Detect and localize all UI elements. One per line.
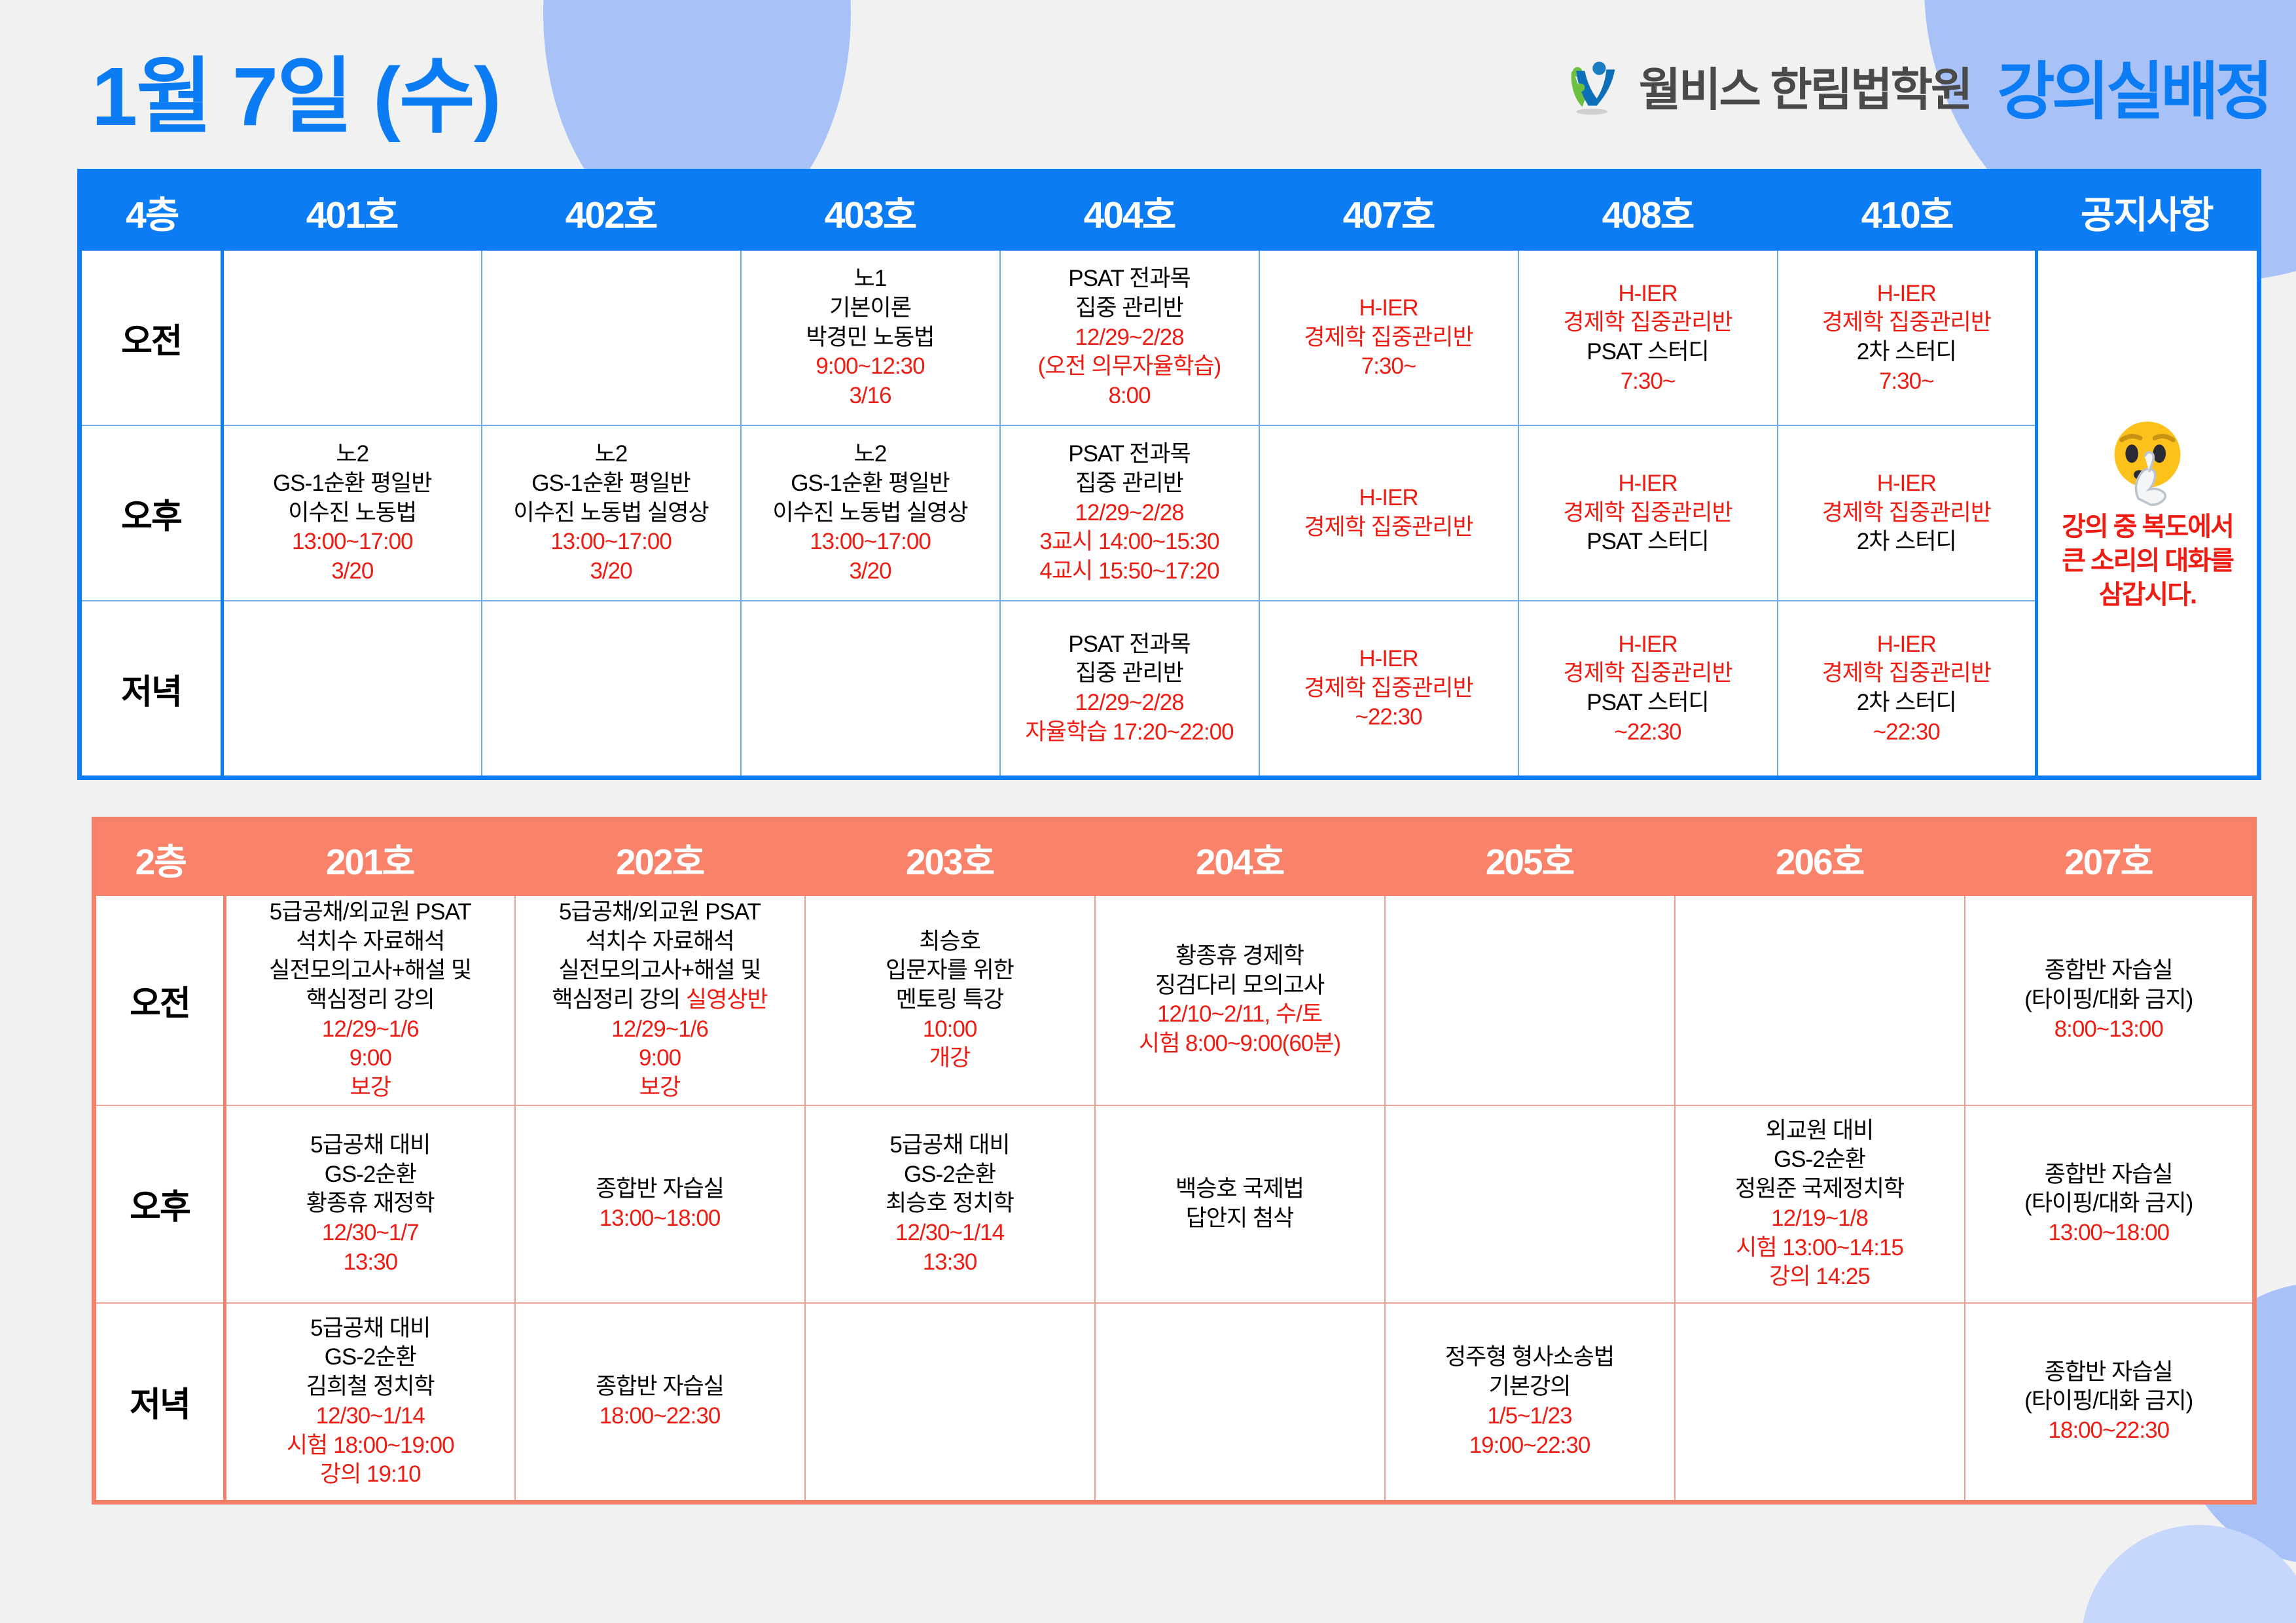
floor2-col-4: 204호 xyxy=(1095,819,1385,897)
schedule-line: 13:00~17:00 xyxy=(550,528,672,556)
schedule-entry: H-IER경제학 집중관리반PSAT 스터디 xyxy=(1523,470,1773,556)
schedule-line: 12/29~2/28 xyxy=(1075,499,1183,527)
cell-floor2-r2-c3 xyxy=(1095,1303,1385,1503)
cell-floor2-r1-c3: 백승호 국제법답안지 첨삭 xyxy=(1095,1105,1385,1303)
floor4-col-0: 4층 xyxy=(80,171,223,251)
schedule-entry: H-IER경제학 집중관리반 xyxy=(1264,484,1514,541)
floor4-header-row: 4층 401호 402호 403호 404호 407호 408호 410호 공지… xyxy=(80,171,2259,251)
schedule-line: 5급공채/외교원 PSAT xyxy=(270,899,471,927)
cell-floor2-r0-c2: 최승호입문자를 위한멘토링 특강10:00개강 xyxy=(805,896,1095,1105)
row-label-오전: 오전 xyxy=(94,896,225,1105)
schedule-line: 노2 xyxy=(595,440,628,469)
schedule-line: 9:00~12:30 xyxy=(816,353,924,381)
schedule-line: 13:00~18:00 xyxy=(2048,1219,2169,1247)
schedule-line: H-IER xyxy=(1359,645,1418,673)
table-row: 오후노2GS-1순환 평일반이수진 노동법13:00~17:003/20노2GS… xyxy=(80,425,2259,601)
schedule-line: 9:00 xyxy=(350,1044,391,1073)
schedule-line: 최승호 정치학 xyxy=(886,1190,1014,1218)
cell-floor4-r0-c1 xyxy=(482,251,741,425)
cell-floor2-r1-c2: 5급공채 대비GS-2순환최승호 정치학12/30~1/1413:30 xyxy=(805,1105,1095,1303)
schedule-line: ~22:30 xyxy=(1614,719,1681,747)
schedule-line: 자율학습 17:20~22:00 xyxy=(1025,719,1233,747)
floor4-col-2: 402호 xyxy=(482,171,741,251)
schedule-line-accent: 실영상반 xyxy=(686,987,768,1012)
schedule-line: 석치수 자료해석 xyxy=(296,928,444,956)
schedule-entry: PSAT 전과목집중 관리반12/29~2/283교시 14:00~15:304… xyxy=(1005,440,1255,585)
schedule-line: 경제학 집중관리반 xyxy=(1304,324,1473,352)
schedule-line: 외교원 대비 xyxy=(1766,1117,1874,1145)
schedule-line: 13:00~18:00 xyxy=(600,1205,721,1233)
cell-floor2-r2-c5 xyxy=(1675,1303,1965,1503)
schedule-line: (타이핑/대화 금지) xyxy=(2024,986,2193,1014)
schedule-line: H-IER xyxy=(1877,470,1936,498)
schedule-line: 집중 관리반 xyxy=(1075,470,1183,498)
table-row: 저녁5급공채 대비GS-2순환김희철 정치학12/30~1/14시험 18:00… xyxy=(94,1303,2255,1503)
page-title: 1월 7일 (수) xyxy=(92,30,500,149)
schedule-line: 핵심정리 강의 xyxy=(306,986,435,1014)
schedule-entry: H-IER경제학 집중관리반2차 스터디7:30~ xyxy=(1782,280,2032,396)
schedule-line: H-IER xyxy=(1359,484,1418,512)
schedule-line: 18:00~22:30 xyxy=(2048,1417,2169,1445)
schedule-line: GS-1순환 평일반 xyxy=(791,470,949,498)
cell-floor4-r0-c6: H-IER경제학 집중관리반2차 스터디7:30~ xyxy=(1778,251,2037,425)
schedule-line: 경제학 집중관리반 xyxy=(1304,675,1473,703)
schedule-line: 8:00~13:00 xyxy=(2054,1016,2163,1044)
cell-floor2-r0-c4 xyxy=(1385,896,1675,1105)
row-label-오후: 오후 xyxy=(80,425,223,601)
schedule-line: 기본이론 xyxy=(829,294,911,323)
notice-cell: 강의 중 복도에서큰 소리의 대화를삼갑시다. xyxy=(2037,251,2259,778)
row-label-오후: 오후 xyxy=(94,1105,225,1303)
schedule-line: 시험 18:00~19:00 xyxy=(287,1432,454,1460)
schedule-line: 집중 관리반 xyxy=(1075,660,1183,688)
schedule-line: 황종휴 경제학 xyxy=(1175,942,1304,971)
cell-floor4-r1-c5: H-IER경제학 집중관리반PSAT 스터디 xyxy=(1518,425,1778,601)
cell-floor4-r1-c1: 노2GS-1순환 평일반이수진 노동법 실영상13:00~17:003/20 xyxy=(482,425,741,601)
notice-line: 삼갑시다. xyxy=(2062,578,2233,612)
floor4-schedule-table: 4층 401호 402호 403호 404호 407호 408호 410호 공지… xyxy=(77,169,2261,780)
schedule-line: 멘토링 특강 xyxy=(896,986,1004,1014)
brand-block: 월비스 한림법학원 강의실배정 xyxy=(1564,41,2270,132)
schedule-entry: H-IER경제학 집중관리반7:30~ xyxy=(1264,294,1514,381)
decor-blob-bottom-right-small xyxy=(2081,1525,2296,1623)
cell-floor2-r0-c6: 종합반 자습실(타이핑/대화 금지)8:00~13:00 xyxy=(1965,896,2255,1105)
schedule-line: 12/10~2/11, 수/토 xyxy=(1157,1001,1322,1029)
schedule-line: 보강 xyxy=(350,1074,391,1102)
schedule-entry: 최승호입문자를 위한멘토링 특강10:00개강 xyxy=(810,928,1090,1073)
cell-floor4-r2-c2 xyxy=(741,601,1000,778)
schedule-line: 13:30 xyxy=(343,1249,397,1277)
schedule-line: 5급공채 대비 xyxy=(889,1132,1009,1160)
floor4-col-6: 408호 xyxy=(1518,171,1778,251)
shush-face-icon xyxy=(2102,414,2193,506)
schedule-line: 경제학 집중관리반 xyxy=(1304,514,1473,542)
poster-header: 1월 7일 (수) 월비스 한림법학원 강의실배정 xyxy=(0,0,2296,164)
notice-content: 강의 중 복도에서큰 소리의 대화를삼갑시다. xyxy=(2042,414,2253,612)
schedule-poster: 1월 7일 (수) 월비스 한림법학원 강의실배정 xyxy=(0,0,2296,1623)
schedule-line: 이수진 노동법 xyxy=(288,499,416,527)
schedule-entry: 백승호 국제법답안지 첨삭 xyxy=(1100,1175,1380,1232)
schedule-line: PSAT 스터디 xyxy=(1587,528,1709,556)
schedule-entry: H-IER경제학 집중관리반2차 스터디 xyxy=(1782,470,2032,556)
schedule-line: GS-1순환 평일반 xyxy=(273,470,431,498)
schedule-line: 12/30~1/7 xyxy=(322,1219,419,1247)
schedule-line: (오전 의무자율학습) xyxy=(1038,353,1221,381)
floor2-col-5: 205호 xyxy=(1385,819,1675,897)
schedule-line: 12/29~2/28 xyxy=(1075,324,1183,352)
schedule-line: 백승호 국제법 xyxy=(1175,1175,1304,1204)
schedule-line: 경제학 집중관리반 xyxy=(1822,499,1991,527)
cell-floor4-r2-c3: PSAT 전과목집중 관리반12/29~2/28자율학습 17:20~22:00 xyxy=(1000,601,1259,778)
cell-floor2-r2-c1: 종합반 자습실18:00~22:30 xyxy=(515,1303,805,1503)
floor4-col-3: 403호 xyxy=(741,171,1000,251)
row-label-오전: 오전 xyxy=(80,251,223,425)
schedule-line: 3/20 xyxy=(590,558,632,586)
cell-floor2-r1-c1: 종합반 자습실13:00~18:00 xyxy=(515,1105,805,1303)
schedule-entry: H-IER경제학 집중관리반PSAT 스터디~22:30 xyxy=(1523,631,1773,747)
schedule-line: 3/16 xyxy=(849,382,891,410)
schedule-line: GS-2순환 xyxy=(325,1344,416,1372)
cell-floor4-r0-c5: H-IER경제학 집중관리반PSAT 스터디7:30~ xyxy=(1518,251,1778,425)
schedule-line: 강의 19:10 xyxy=(320,1461,421,1489)
schedule-entry: H-IER경제학 집중관리반2차 스터디~22:30 xyxy=(1782,631,2032,747)
floor4-col-1: 401호 xyxy=(223,171,482,251)
schedule-line: 강의 14:25 xyxy=(1769,1263,1870,1291)
cell-floor2-r2-c2 xyxy=(805,1303,1095,1503)
schedule-line: 노2 xyxy=(336,440,368,469)
schedule-line: 보강 xyxy=(639,1074,680,1102)
schedule-line: (타이핑/대화 금지) xyxy=(2024,1190,2193,1218)
schedule-line: 5급공채 대비 xyxy=(310,1132,430,1160)
schedule-line: 12/29~1/6 xyxy=(322,1016,419,1044)
schedule-line: 최승호 xyxy=(919,928,980,956)
cell-floor2-r2-c4: 정주형 형사소송법기본강의1/5~1/2319:00~22:30 xyxy=(1385,1303,1675,1503)
cell-floor2-r0-c3: 황종휴 경제학징검다리 모의고사12/10~2/11, 수/토시험 8:00~9… xyxy=(1095,896,1385,1105)
notice-line: 큰 소리의 대화를 xyxy=(2062,544,2233,578)
cell-floor2-r0-c1: 5급공채/외교원 PSAT석치수 자료해석실전모의고사+해설 및핵심정리 강의 … xyxy=(515,896,805,1105)
schedule-entry: 황종휴 경제학징검다리 모의고사12/10~2/11, 수/토시험 8:00~9… xyxy=(1100,942,1380,1058)
schedule-entry: 종합반 자습실13:00~18:00 xyxy=(520,1175,800,1232)
schedule-line: 3/20 xyxy=(331,558,373,586)
schedule-entry: 종합반 자습실(타이핑/대화 금지)13:00~18:00 xyxy=(1969,1161,2249,1247)
schedule-entry: 종합반 자습실(타이핑/대화 금지)8:00~13:00 xyxy=(1969,957,2249,1043)
schedule-entry: 노2GS-1순환 평일반이수진 노동법 실영상13:00~17:003/20 xyxy=(486,440,736,585)
schedule-line: 9:00 xyxy=(639,1044,681,1073)
schedule-line: GS-2순환 xyxy=(904,1161,996,1189)
schedule-line: 핵심정리 강의 실영상반 xyxy=(552,986,767,1014)
schedule-line: 5급공채/외교원 PSAT xyxy=(559,899,761,927)
schedule-line: PSAT 전과목 xyxy=(1068,440,1191,469)
floor2-col-0: 2층 xyxy=(94,819,225,897)
schedule-line: 3/20 xyxy=(849,558,891,586)
schedule-line: H-IER xyxy=(1359,294,1418,323)
schedule-line: (타이핑/대화 금지) xyxy=(2024,1387,2193,1416)
schedule-entry: PSAT 전과목집중 관리반12/29~2/28(오전 의무자율학습)8:00 xyxy=(1005,265,1255,410)
schedule-line: 18:00~22:30 xyxy=(600,1402,721,1431)
schedule-line: 13:30 xyxy=(923,1249,977,1277)
schedule-line: 노2 xyxy=(854,440,887,469)
cell-floor4-r2-c4: H-IER경제학 집중관리반~22:30 xyxy=(1259,601,1518,778)
cell-floor2-r2-c6: 종합반 자습실(타이핑/대화 금지)18:00~22:30 xyxy=(1965,1303,2255,1503)
schedule-line: 석치수 자료해석 xyxy=(585,928,734,956)
cell-floor4-r2-c1 xyxy=(482,601,741,778)
schedule-line: 종합반 자습실 xyxy=(596,1373,724,1401)
schedule-line: 종합반 자습실 xyxy=(2045,1359,2173,1387)
schedule-entry: H-IER경제학 집중관리반PSAT 스터디7:30~ xyxy=(1523,280,1773,396)
schedule-line: H-IER xyxy=(1618,470,1677,498)
cell-floor2-r2-c0: 5급공채 대비GS-2순환김희철 정치학12/30~1/14시험 18:00~1… xyxy=(225,1303,515,1503)
schedule-line: 경제학 집중관리반 xyxy=(1563,309,1732,337)
schedule-entry: 5급공채/외교원 PSAT석치수 자료해석실전모의고사+해설 및핵심정리 강의 … xyxy=(520,899,800,1102)
floor2-header-row: 2층 201호 202호 203호 204호 205호 206호 207호 xyxy=(94,819,2255,897)
schedule-entry: 외교원 대비GS-2순환정원준 국제정치학12/19~1/8시험 13:00~1… xyxy=(1679,1117,1960,1291)
schedule-line: H-IER xyxy=(1877,631,1936,659)
floor2-col-7: 207호 xyxy=(1965,819,2255,897)
schedule-entry: 노2GS-1순환 평일반이수진 노동법13:00~17:003/20 xyxy=(228,440,477,585)
schedule-line: ~22:30 xyxy=(1873,719,1940,747)
schedule-line: 시험 13:00~14:15 xyxy=(1736,1234,1903,1262)
cell-floor4-r2-c6: H-IER경제학 집중관리반2차 스터디~22:30 xyxy=(1778,601,2037,778)
schedule-line: 7:30~ xyxy=(1621,368,1676,396)
schedule-entry: 정주형 형사소송법기본강의1/5~1/2319:00~22:30 xyxy=(1390,1344,1670,1459)
schedule-entry: 5급공채/외교원 PSAT석치수 자료해석실전모의고사+해설 및핵심정리 강의1… xyxy=(230,899,511,1102)
cell-floor2-r1-c6: 종합반 자습실(타이핑/대화 금지)13:00~18:00 xyxy=(1965,1105,2255,1303)
schedule-line: 종합반 자습실 xyxy=(2045,1161,2173,1189)
schedule-line: 2차 스터디 xyxy=(1857,528,1956,556)
schedule-line: 2차 스터디 xyxy=(1857,689,1956,717)
cell-floor2-r1-c4 xyxy=(1385,1105,1675,1303)
cell-floor2-r1-c0: 5급공채 대비GS-2순환황종휴 재정학12/30~1/713:30 xyxy=(225,1105,515,1303)
schedule-line: 이수진 노동법 실영상 xyxy=(772,499,967,527)
cell-floor4-r1-c4: H-IER경제학 집중관리반 xyxy=(1259,425,1518,601)
schedule-entry: 5급공채 대비GS-2순환최승호 정치학12/30~1/1413:30 xyxy=(810,1132,1090,1276)
floor2-schedule-table: 2층 201호 202호 203호 204호 205호 206호 207호 오전… xyxy=(92,817,2257,1505)
floor4-col-notice: 공지사항 xyxy=(2037,171,2259,251)
schedule-line: 19:00~22:30 xyxy=(1469,1432,1590,1460)
schedule-line: 경제학 집중관리반 xyxy=(1822,309,1991,337)
notice-line: 강의 중 복도에서 xyxy=(2062,510,2233,544)
schedule-entry: 노2GS-1순환 평일반이수진 노동법 실영상13:00~17:003/20 xyxy=(745,440,996,585)
schedule-line: 입문자를 위한 xyxy=(886,957,1014,985)
schedule-line: 실전모의고사+해설 및 xyxy=(559,957,761,985)
schedule-line: 12/30~1/14 xyxy=(895,1219,1004,1247)
cell-floor4-r1-c2: 노2GS-1순환 평일반이수진 노동법 실영상13:00~17:003/20 xyxy=(741,425,1000,601)
schedule-line: 시험 8:00~9:00(60분) xyxy=(1139,1030,1340,1058)
floor4-col-4: 404호 xyxy=(1000,171,1259,251)
cell-floor4-r1-c0: 노2GS-1순환 평일반이수진 노동법13:00~17:003/20 xyxy=(223,425,482,601)
cell-floor2-r0-c0: 5급공채/외교원 PSAT석치수 자료해석실전모의고사+해설 및핵심정리 강의1… xyxy=(225,896,515,1105)
schedule-line: 경제학 집중관리반 xyxy=(1822,660,1991,688)
schedule-line: 정주형 형사소송법 xyxy=(1445,1344,1614,1372)
schedule-line: 12/29~2/28 xyxy=(1075,689,1183,717)
floor2-col-3: 203호 xyxy=(805,819,1095,897)
schedule-entry: 종합반 자습실(타이핑/대화 금지)18:00~22:30 xyxy=(1969,1359,2249,1445)
schedule-line: PSAT 전과목 xyxy=(1068,631,1191,659)
schedule-line: 실전모의고사+해설 및 xyxy=(269,957,471,985)
row-label-저녁: 저녁 xyxy=(80,601,223,778)
schedule-line: 13:00~17:00 xyxy=(292,528,413,556)
schedule-line: 3교시 14:00~15:30 xyxy=(1039,528,1219,556)
schedule-entry: 노1기본이론박경민 노동법9:00~12:303/16 xyxy=(745,265,996,410)
floor2-col-1: 201호 xyxy=(225,819,515,897)
schedule-line: 4교시 15:50~17:20 xyxy=(1039,558,1219,586)
schedule-line: 13:00~17:00 xyxy=(810,528,931,556)
schedule-line: 1/5~1/23 xyxy=(1487,1402,1571,1431)
cell-floor4-r0-c3: PSAT 전과목집중 관리반12/29~2/28(오전 의무자율학습)8:00 xyxy=(1000,251,1259,425)
schedule-line: 10:00 xyxy=(923,1016,977,1044)
schedule-entry: 5급공채 대비GS-2순환김희철 정치학12/30~1/14시험 18:00~1… xyxy=(230,1315,511,1489)
schedule-line: 징검다리 모의고사 xyxy=(1155,972,1324,1000)
schedule-line: 2차 스터디 xyxy=(1857,338,1956,366)
schedule-line: 기본강의 xyxy=(1489,1373,1571,1401)
schedule-line: PSAT 스터디 xyxy=(1587,338,1709,366)
table-row: 오후5급공채 대비GS-2순환황종휴 재정학12/30~1/713:30종합반 … xyxy=(94,1105,2255,1303)
floor4-col-7: 410호 xyxy=(1778,171,2037,251)
schedule-line: 종합반 자습실 xyxy=(596,1175,724,1204)
schedule-line: 답안지 첨삭 xyxy=(1186,1205,1294,1233)
cell-floor2-r0-c5 xyxy=(1675,896,1965,1105)
brand-name: 월비스 한림법학원 xyxy=(1639,53,1971,119)
schedule-line: PSAT 전과목 xyxy=(1068,265,1191,293)
schedule-line: GS-2순환 xyxy=(325,1161,416,1189)
cell-floor2-r1-c5: 외교원 대비GS-2순환정원준 국제정치학12/19~1/8시험 13:00~1… xyxy=(1675,1105,1965,1303)
schedule-line: H-IER xyxy=(1618,631,1677,659)
schedule-line: 개강 xyxy=(929,1044,970,1073)
notice-text: 강의 중 복도에서큰 소리의 대화를삼갑시다. xyxy=(2062,510,2233,612)
document-title: 강의실배정 xyxy=(1997,41,2270,132)
schedule-line: ~22:30 xyxy=(1355,704,1422,732)
schedule-line: 7:30~ xyxy=(1361,353,1416,381)
cell-floor4-r2-c5: H-IER경제학 집중관리반PSAT 스터디~22:30 xyxy=(1518,601,1778,778)
table-row: 오전노1기본이론박경민 노동법9:00~12:303/16PSAT 전과목집중 … xyxy=(80,251,2259,425)
schedule-line: 5급공채 대비 xyxy=(310,1315,430,1343)
table-row: 저녁PSAT 전과목집중 관리반12/29~2/28자율학습 17:20~22:… xyxy=(80,601,2259,778)
schedule-line: 종합반 자습실 xyxy=(2045,957,2173,985)
schedule-entry: PSAT 전과목집중 관리반12/29~2/28자율학습 17:20~22:00 xyxy=(1005,631,1255,747)
schedule-line: 이수진 노동법 실영상 xyxy=(513,499,708,527)
schedule-line: H-IER xyxy=(1618,280,1677,308)
wallbis-logo-icon xyxy=(1564,56,1624,116)
floor2-col-6: 206호 xyxy=(1675,819,1965,897)
cell-floor4-r2-c0 xyxy=(223,601,482,778)
schedule-line: 12/30~1/14 xyxy=(316,1402,425,1431)
schedule-line: 12/19~1/8 xyxy=(1771,1205,1868,1233)
schedule-line: GS-1순환 평일반 xyxy=(531,470,690,498)
schedule-line: GS-2순환 xyxy=(1774,1146,1865,1174)
schedule-line: 12/29~1/6 xyxy=(611,1016,708,1044)
schedule-line: 황종휴 재정학 xyxy=(306,1190,435,1218)
schedule-line: 김희철 정치학 xyxy=(306,1373,435,1401)
row-label-저녁: 저녁 xyxy=(94,1303,225,1503)
cell-floor4-r0-c2: 노1기본이론박경민 노동법9:00~12:303/16 xyxy=(741,251,1000,425)
floor2-col-2: 202호 xyxy=(515,819,805,897)
schedule-entry: H-IER경제학 집중관리반~22:30 xyxy=(1264,645,1514,732)
schedule-line: 8:00 xyxy=(1108,382,1150,410)
schedule-entry: 종합반 자습실18:00~22:30 xyxy=(520,1373,800,1430)
schedule-line: PSAT 스터디 xyxy=(1587,689,1709,717)
schedule-line: 집중 관리반 xyxy=(1075,294,1183,323)
cell-floor4-r1-c3: PSAT 전과목집중 관리반12/29~2/283교시 14:00~15:304… xyxy=(1000,425,1259,601)
schedule-line: 노1 xyxy=(854,265,887,293)
floor4-col-5: 407호 xyxy=(1259,171,1518,251)
schedule-line: 7:30~ xyxy=(1879,368,1934,396)
cell-floor4-r0-c0 xyxy=(223,251,482,425)
schedule-line: 경제학 집중관리반 xyxy=(1563,499,1732,527)
schedule-line: 정원준 국제정치학 xyxy=(1735,1175,1904,1204)
table-row: 오전5급공채/외교원 PSAT석치수 자료해석실전모의고사+해설 및핵심정리 강… xyxy=(94,896,2255,1105)
cell-floor4-r0-c4: H-IER경제학 집중관리반7:30~ xyxy=(1259,251,1518,425)
cell-floor4-r1-c6: H-IER경제학 집중관리반2차 스터디 xyxy=(1778,425,2037,601)
schedule-line: H-IER xyxy=(1877,280,1936,308)
schedule-line: 박경민 노동법 xyxy=(806,324,935,352)
schedule-line: 경제학 집중관리반 xyxy=(1563,660,1732,688)
schedule-entry: 5급공채 대비GS-2순환황종휴 재정학12/30~1/713:30 xyxy=(230,1132,511,1276)
